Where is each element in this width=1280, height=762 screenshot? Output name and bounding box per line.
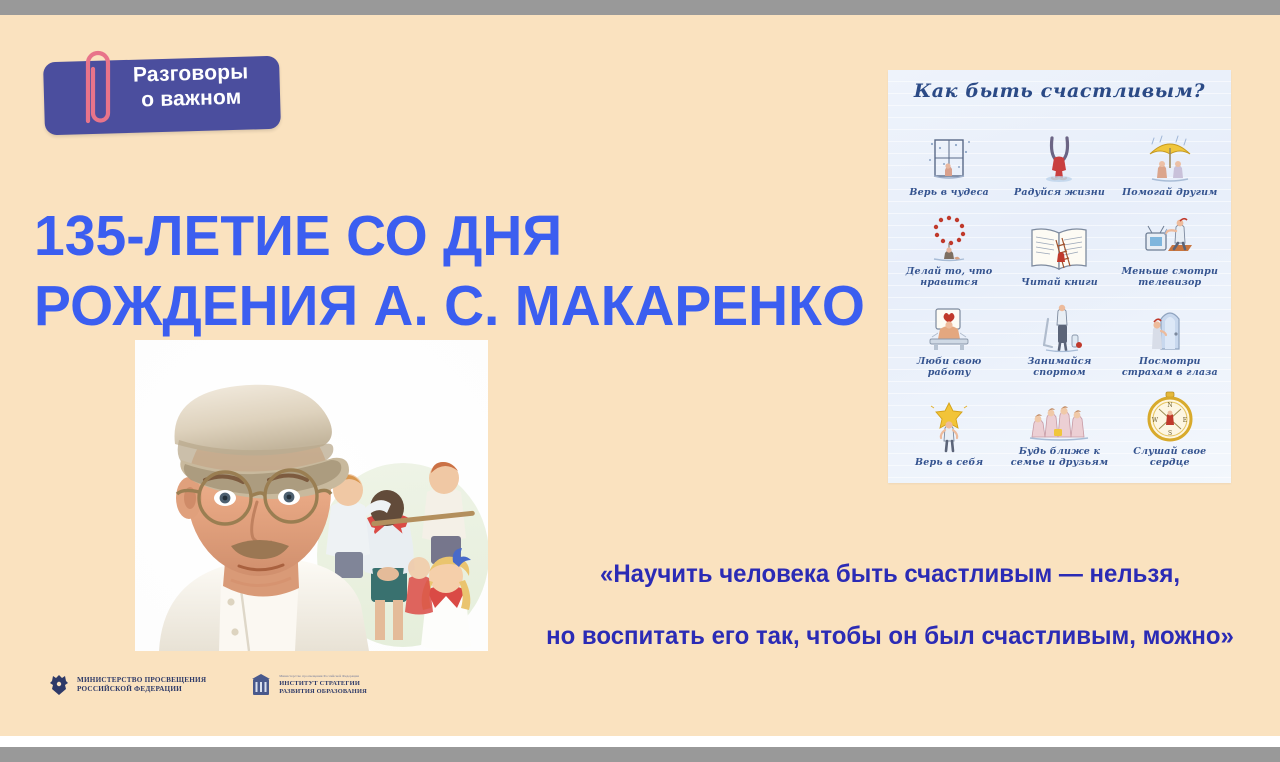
infographic-title: Как быть счастливым? <box>888 80 1231 102</box>
footer-logos: МИНИСТЕРСТВО ПРОСВЕЩЕНИЯ РОССИЙСКОЙ ФЕДЕ… <box>48 673 367 697</box>
balloons-icon <box>926 209 972 263</box>
institute-emblem-icon <box>250 673 272 697</box>
page-title: 135-ЛЕТИЕ СО ДНЯ РОЖДЕНИЯ А. С. МАКАРЕНК… <box>34 201 839 341</box>
desk-work-icon <box>924 299 974 353</box>
institute-logo: Министерство просвещения Российской Феде… <box>250 673 367 697</box>
infographic-item-label: Читай книги <box>1021 277 1098 288</box>
infographic-item: Люби свою работу <box>894 288 1004 378</box>
infographic-item-label: Радуйся жизни <box>1014 187 1105 198</box>
svg-text:N: N <box>1167 402 1172 409</box>
family-icon <box>1026 389 1092 443</box>
sport-icon <box>1034 299 1084 353</box>
page-title-line-1: 135-ЛЕТИЕ СО ДНЯ <box>34 201 839 271</box>
tv-kick-icon <box>1142 209 1198 263</box>
ministry-of-education-logo: МИНИСТЕРСТВО ПРОСВЕЩЕНИЯ РОССИЙСКОЙ ФЕДЕ… <box>48 674 206 696</box>
quote-line-1: «Научить человека быть счастливым — нель… <box>535 543 1245 605</box>
star-person-icon <box>926 400 972 454</box>
brand-logo[interactable]: Разговоры о важном <box>36 33 286 138</box>
makarenko-portrait <box>135 340 488 651</box>
infographic-item-label: Делай то, что нравится <box>897 266 1001 288</box>
svg-text:S: S <box>1168 430 1172 437</box>
infographic-item-label: Меньше смотри телевизор <box>1118 266 1222 288</box>
handstand-icon <box>1036 130 1082 184</box>
umbrella-icon <box>1144 130 1196 184</box>
slide-canvas: Разговоры о важном 135-ЛЕТИЕ СО ДНЯ РОЖД… <box>0 15 1280 736</box>
ministry-of-education-text: МИНИСТЕРСТВО ПРОСВЕЩЕНИЯ РОССИЙСКОЙ ФЕДЕ… <box>77 676 206 694</box>
fear-door-icon <box>1145 299 1195 353</box>
infographic-item: Занимайся спортом <box>1004 288 1114 378</box>
brand-line-2: о важном <box>141 86 242 112</box>
infographic-item: N S W E Слушай свое сердце <box>1115 378 1225 468</box>
russian-coat-of-arms-icon <box>48 674 70 696</box>
compass-icon: N S W E <box>1144 389 1196 443</box>
svg-text:W: W <box>1152 417 1159 424</box>
infographic-item: Радуйся жизни <box>1004 108 1114 198</box>
infographic-item-label: Будь ближе к семье и друзьям <box>1007 446 1111 468</box>
infographic-item-label: Верь в чудеса <box>909 187 989 198</box>
makarenko-quote: «Научить человека быть счастливым — нель… <box>535 543 1245 667</box>
infographic-grid: Верь в чудеса Радуйся жизни <box>888 108 1231 468</box>
infographic-item: Делай то, что нравится <box>894 198 1004 288</box>
infographic-item-label: Слушай свое сердце <box>1118 446 1222 468</box>
makarenko-portrait-illustration <box>135 340 488 651</box>
bottom-white-strip <box>0 736 1280 747</box>
infographic-item-label: Верь в себя <box>915 457 983 468</box>
happiness-infographic: Как быть счастливым? <box>888 70 1231 483</box>
infographic-item: Будь ближе к семье и друзьям <box>1004 378 1114 468</box>
infographic-item: Помогай другим <box>1115 108 1225 198</box>
infographic-item: Посмотри страхам в глаза <box>1115 288 1225 378</box>
open-book-icon <box>1028 220 1090 274</box>
infographic-item-label: Люби свою работу <box>897 356 1001 378</box>
infographic-item-label: Занимайся спортом <box>1007 356 1111 378</box>
institute-text: ИНСТИТУТ СТРАТЕГИИ РАЗВИТИЯ ОБРАЗОВАНИЯ <box>279 680 367 696</box>
slide-frame: Разговоры о важном 135-ЛЕТИЕ СО ДНЯ РОЖД… <box>0 0 1280 762</box>
infographic-item-label: Помогай другим <box>1122 187 1217 198</box>
brand-logo-text: Разговоры о важном <box>105 59 276 114</box>
infographic-item: Верь в себя <box>894 378 1004 468</box>
infographic-item-label: Посмотри страхам в глаза <box>1118 356 1222 378</box>
svg-text:E: E <box>1183 417 1187 424</box>
window-snow-icon <box>926 130 972 184</box>
page-title-line-2: РОЖДЕНИЯ А. С. МАКАРЕНКО <box>34 271 839 341</box>
quote-line-2: но воспитать его так, чтобы он был счаст… <box>535 605 1245 667</box>
infographic-item: Читай книги <box>1004 198 1114 288</box>
bottom-gray-bar <box>0 747 1280 762</box>
brand-line-1: Разговоры <box>133 60 249 86</box>
infographic-item: Меньше смотри телевизор <box>1115 198 1225 288</box>
institute-supertext: Министерство просвещения Российской Феде… <box>279 674 367 678</box>
infographic-item: Верь в чудеса <box>894 108 1004 198</box>
